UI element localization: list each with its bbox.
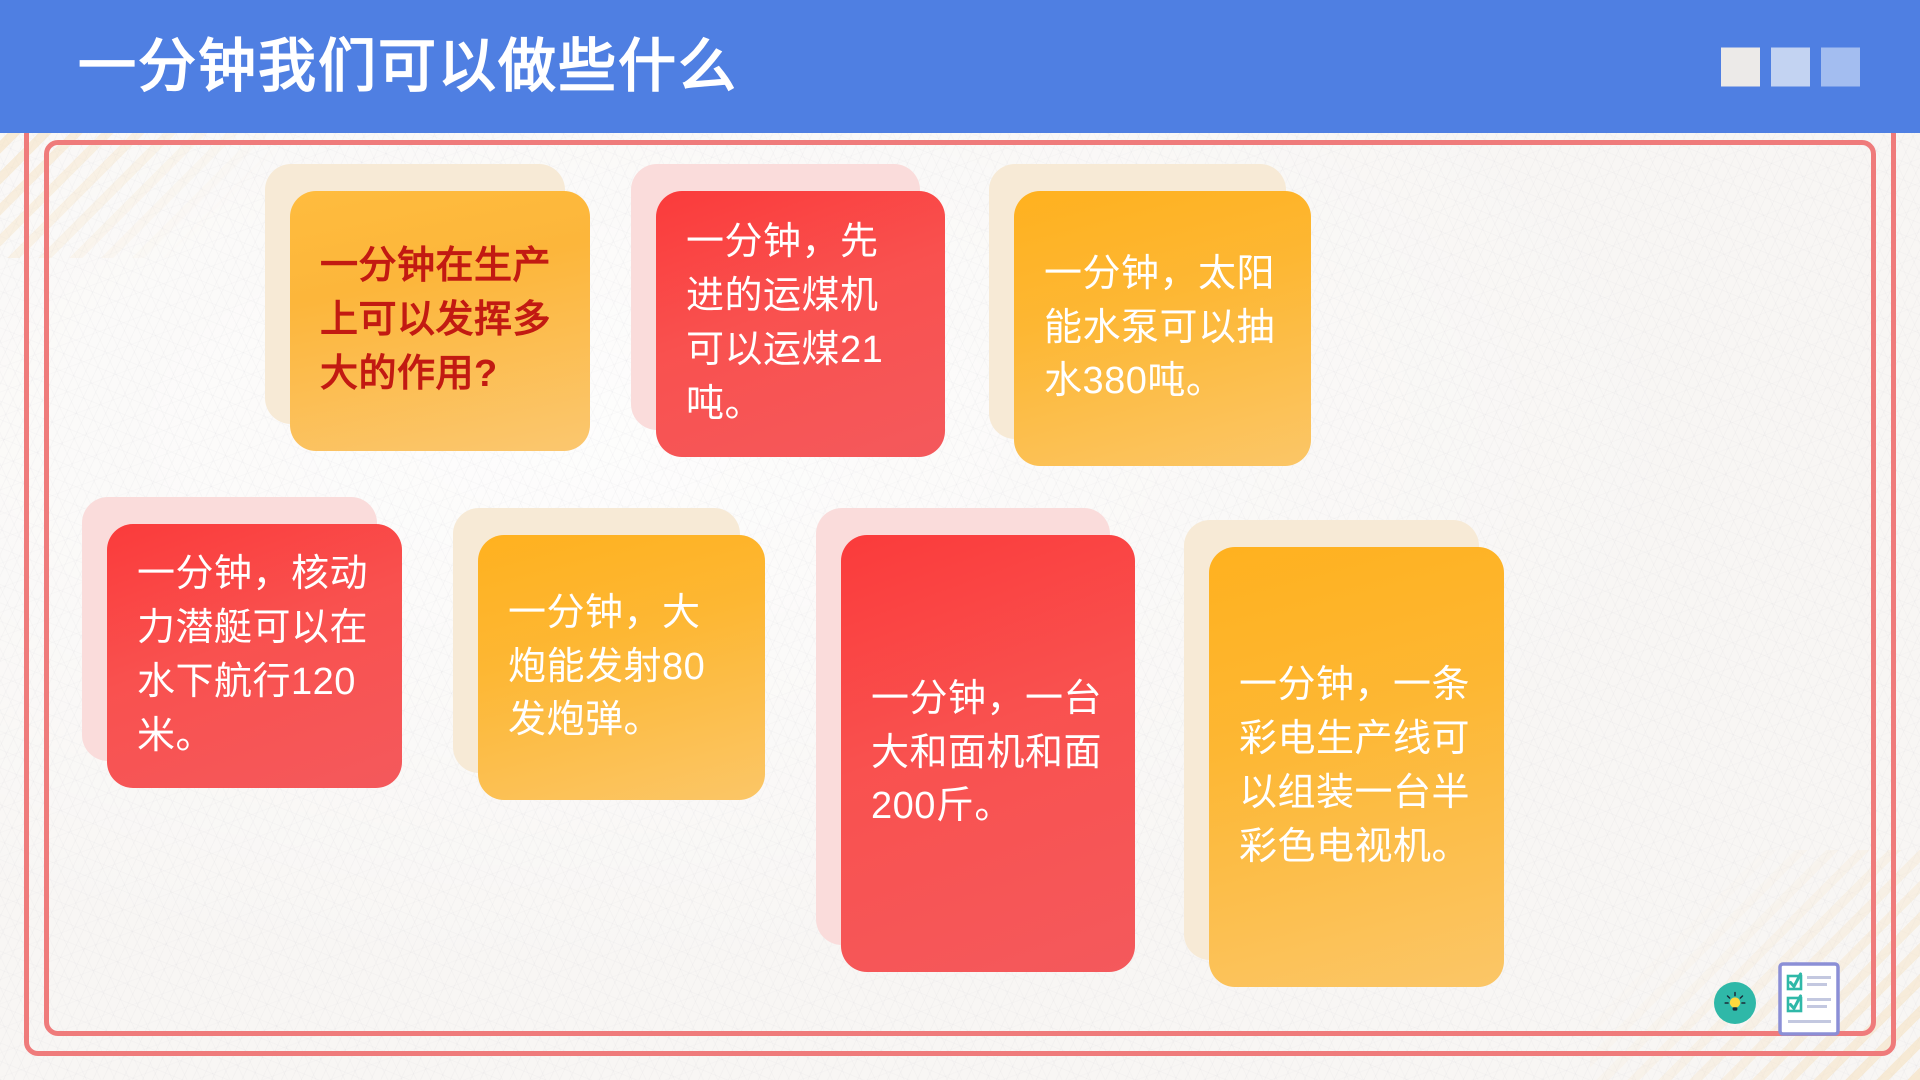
lightbulb-icon <box>1714 982 1756 1024</box>
decor-square-2 <box>1771 47 1810 86</box>
fact-card-text: 一分钟，一台大和面机和面200斤。 <box>841 673 1135 835</box>
card-dough-mixer[interactable]: 一分钟，一台大和面机和面200斤。 <box>841 535 1135 972</box>
fact-card-text: 一分钟，太阳能水泵可以抽水380吨。 <box>1014 248 1311 410</box>
fact-card-4[interactable]: 一分钟，核动力潜艇可以在水下航行120米。 <box>107 524 402 788</box>
fact-card-text: 一分钟在生产上可以发挥多大的作用? <box>290 240 590 402</box>
fact-card-text: 一分钟，一条彩电生产线可以组装一台半彩色电视机。 <box>1209 659 1504 875</box>
slide-header-bar: 一分钟我们可以做些什么 <box>0 0 1920 133</box>
fact-card-5[interactable]: 一分钟，大炮能发射80发炮弹。 <box>478 535 765 800</box>
fact-card-grid: 一分钟在生产上可以发挥多大的作用?一分钟，先进的运煤机可以运煤21吨。一分钟，太… <box>0 0 1920 1080</box>
fact-card-3[interactable]: 一分钟，太阳能水泵可以抽水380吨。 <box>1014 191 1311 466</box>
fact-card-1[interactable]: 一分钟在生产上可以发挥多大的作用? <box>290 191 590 451</box>
fact-card-6[interactable]: 一分钟，一台大和面机和面200斤。 <box>841 535 1135 972</box>
card-cannon[interactable]: 一分钟，大炮能发射80发炮弹。 <box>478 535 765 800</box>
checklist-clipboard-icon <box>1778 962 1840 1036</box>
fact-card-text: 一分钟，先进的运煤机可以运煤21吨。 <box>656 216 945 432</box>
card-tv-line[interactable]: 一分钟，一条彩电生产线可以组装一台半彩色电视机。 <box>1209 547 1504 987</box>
page-title: 一分钟我们可以做些什么 <box>78 38 738 96</box>
card-solar-pump[interactable]: 一分钟，太阳能水泵可以抽水380吨。 <box>1014 191 1311 466</box>
header-decor-squares <box>1721 47 1860 86</box>
fact-card-text: 一分钟，核动力潜艇可以在水下航行120米。 <box>107 548 402 764</box>
slide-canvas: 一分钟我们可以做些什么 一分钟在生产上可以发挥多大的作用?一分钟，先进的运煤机可… <box>0 0 1920 1080</box>
decor-square-1 <box>1721 47 1760 86</box>
card-coal-conveyor[interactable]: 一分钟，先进的运煤机可以运煤21吨。 <box>656 191 945 457</box>
decor-square-3 <box>1821 47 1860 86</box>
card-question[interactable]: 一分钟在生产上可以发挥多大的作用? <box>290 191 590 451</box>
fact-card-2[interactable]: 一分钟，先进的运煤机可以运煤21吨。 <box>656 191 945 457</box>
card-nuclear-submarine[interactable]: 一分钟，核动力潜艇可以在水下航行120米。 <box>107 524 402 788</box>
fact-card-7[interactable]: 一分钟，一条彩电生产线可以组装一台半彩色电视机。 <box>1209 547 1504 987</box>
fact-card-text: 一分钟，大炮能发射80发炮弹。 <box>478 587 765 749</box>
